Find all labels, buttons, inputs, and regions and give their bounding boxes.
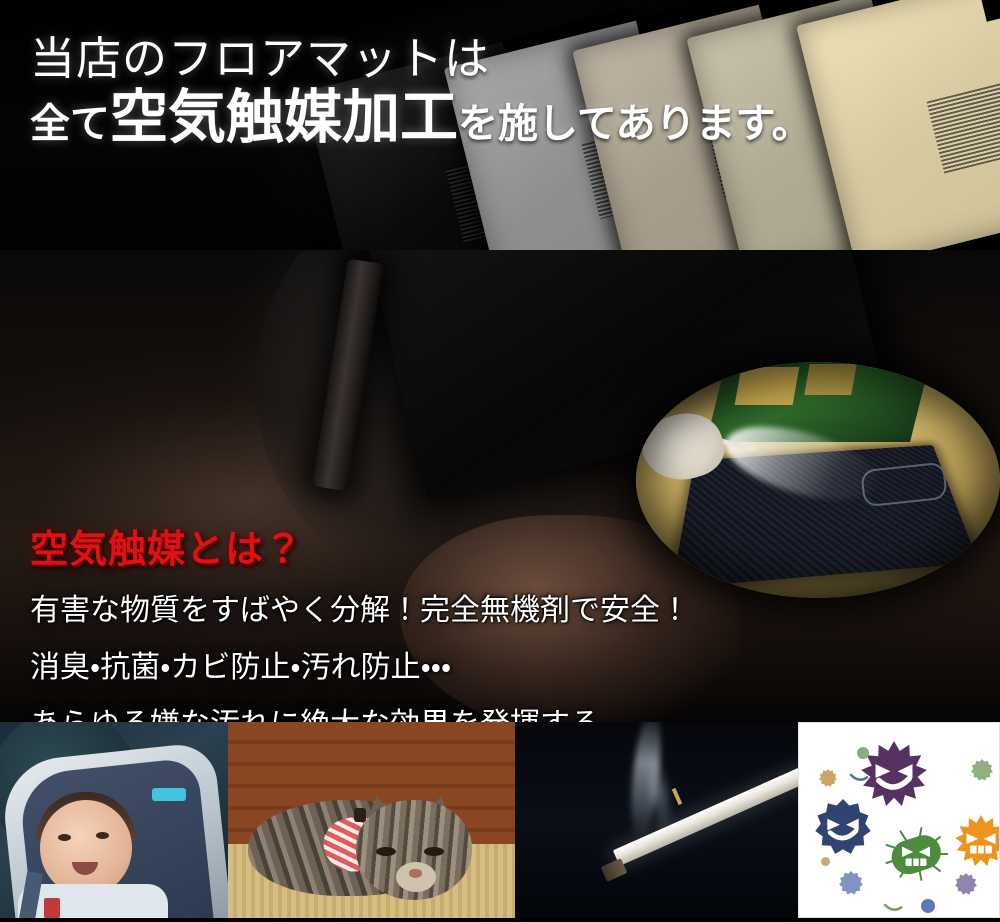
photo-vignette — [636, 362, 1000, 598]
germ-small-sage — [971, 759, 993, 781]
germ-small-violet — [955, 873, 977, 895]
germs-illustration — [798, 722, 1000, 918]
hero-line-1: 当店のフロアマットは — [30, 22, 490, 87]
body-line-1: 有害な物質をすばやく分解！完全無機剤で安全！ — [30, 585, 690, 629]
hero-line-2-emphasis: 空気触媒加工 — [110, 88, 458, 146]
cat-eye-left — [376, 847, 396, 856]
germ-green-rod — [887, 828, 948, 880]
germ-orange-gear — [955, 815, 999, 866]
section-heading-what-is: 空気触媒とは？ — [30, 518, 303, 573]
germ-navy-star — [815, 799, 870, 854]
baby-bib — [18, 884, 168, 918]
germ-small-tan — [819, 769, 837, 787]
germ-worm-blue — [851, 775, 867, 780]
germ-worm-green — [885, 905, 901, 910]
bottom-photo-strip — [0, 722, 1000, 922]
germ-dot-tan — [821, 857, 830, 866]
cat-nose — [409, 869, 422, 878]
hero-line-2-prefix: 全て — [30, 91, 110, 149]
harness-buckle — [44, 898, 60, 918]
germ-small-green — [857, 747, 869, 759]
germ-dot-blue — [921, 899, 935, 913]
main-content-section: 空気触媒とは？ 有害な物質をすばやく分解！完全無機剤で安全！ 消臭・抗菌・カビ防… — [0, 250, 1000, 722]
germs-svg — [799, 723, 999, 918]
advertisement-page: 当店のフロアマットは 全て空気触媒加工を施してあります。 空気触媒とは？ 有害な… — [0, 0, 1000, 922]
cigarette-filter-band — [672, 788, 683, 805]
body-line-2: 消臭・抗菌・カビ防止・汚れ防止・・・ — [30, 642, 451, 686]
baby-eye-left — [58, 834, 71, 841]
cat-eye-right — [424, 847, 444, 856]
baby-face — [40, 800, 132, 896]
baby-eye-right — [96, 832, 109, 839]
germ-small-blue — [839, 871, 863, 895]
cigarette-smoke-photo — [515, 722, 798, 918]
cat-photo — [228, 722, 515, 918]
car-seat-label — [152, 788, 186, 801]
baby-in-car-seat-photo — [0, 722, 228, 918]
spraying-floor-mat-photo — [636, 362, 1000, 598]
body-line-3: あらゆる嫌な汚れに絶大な効果を発揮する — [30, 699, 600, 722]
germ-purple-spiky — [861, 741, 927, 806]
hero-line-2-suffix: を施してあります。 — [458, 91, 812, 149]
hero-line-2: 全て空気触媒加工を施してあります。 — [30, 88, 812, 149]
